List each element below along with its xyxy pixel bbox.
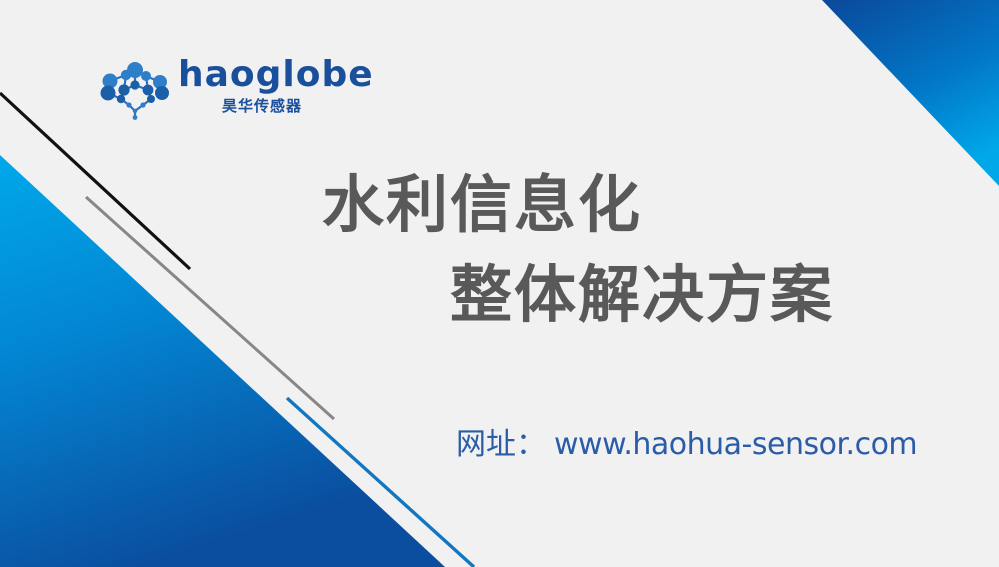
logo-wordmark: haoglobe bbox=[178, 57, 374, 93]
website-label: 网址： bbox=[456, 419, 546, 463]
website-line: 网址： www.haohua-sensor.com bbox=[456, 419, 917, 463]
slide-title: 水利信息化 整体解决方案 bbox=[300, 160, 940, 340]
company-logo: haoglobe 昊华传感器 bbox=[96, 55, 326, 125]
network-nodes-icon bbox=[96, 59, 174, 121]
presentation-slide: haoglobe 昊华传感器 水利信息化 整体解决方案 网址： www.haoh… bbox=[0, 0, 999, 567]
title-line-1: 水利信息化 bbox=[322, 160, 940, 250]
logo-subtitle-chinese: 昊华传感器 bbox=[222, 99, 302, 114]
website-url[interactable]: www.haohua-sensor.com bbox=[554, 427, 917, 462]
title-line-2: 整体解决方案 bbox=[450, 250, 940, 340]
